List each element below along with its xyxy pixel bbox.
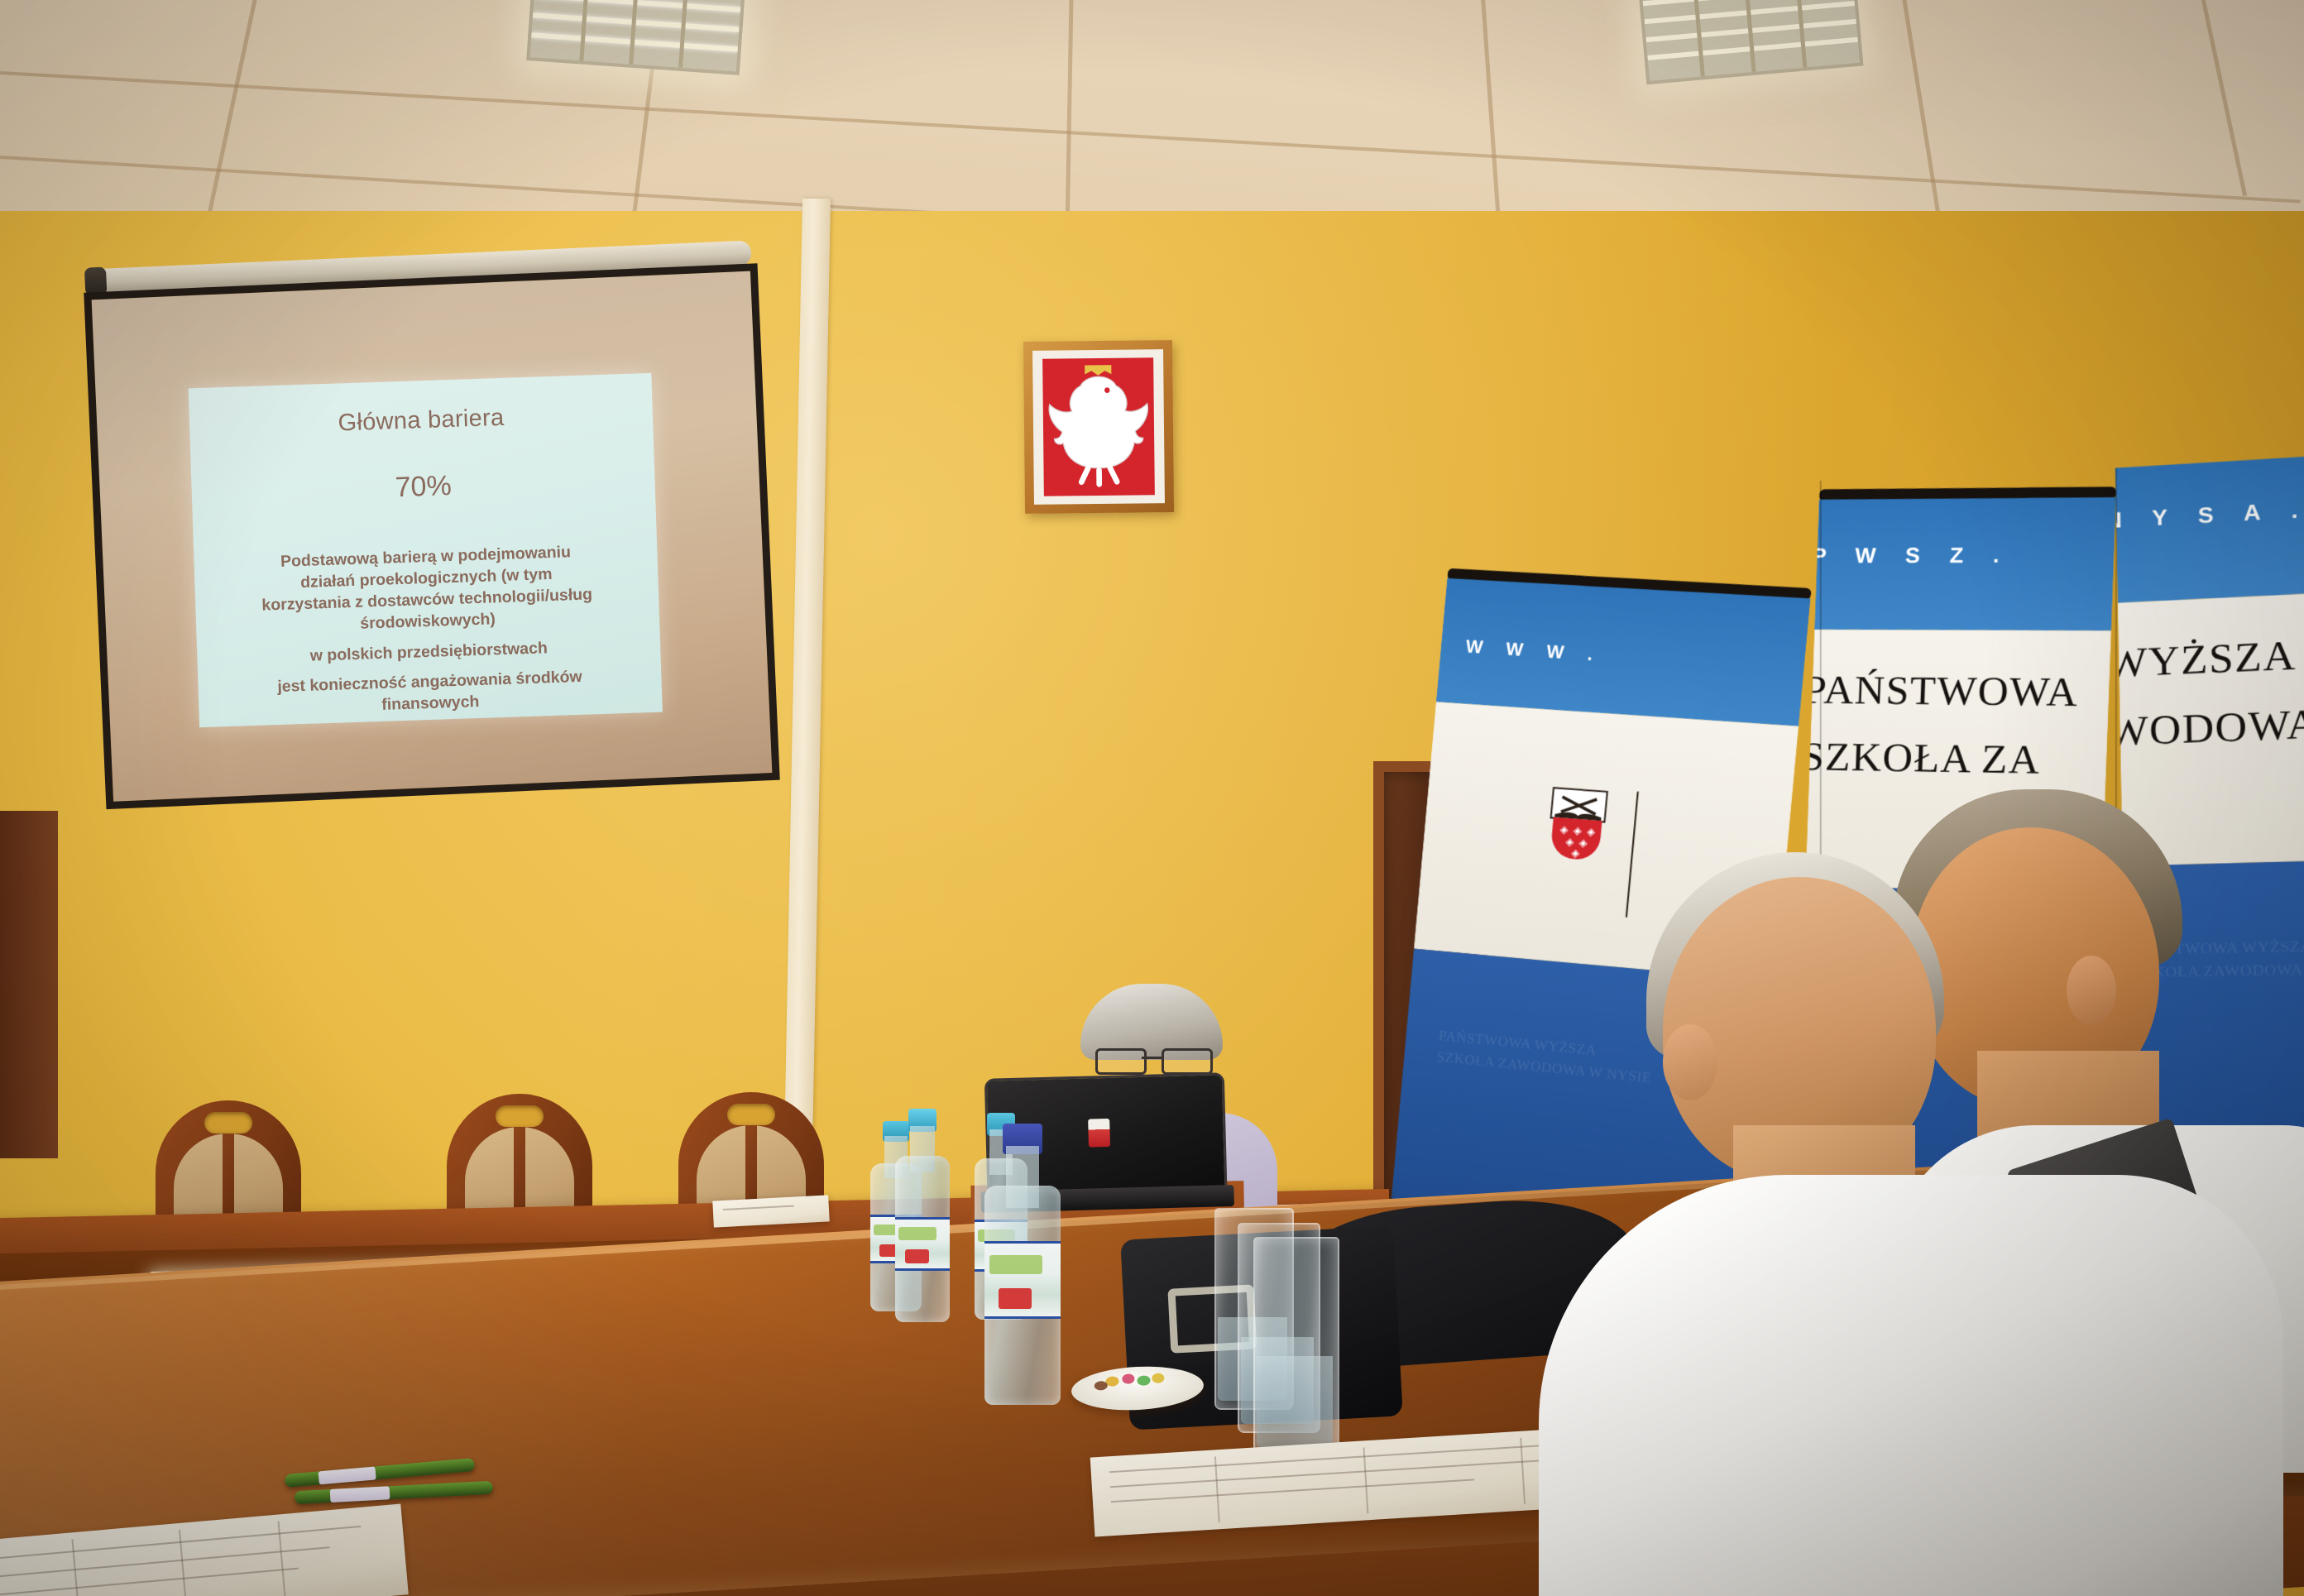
drinking-glass[interactable] [1253, 1237, 1336, 1454]
slide-title: Główna bariera [208, 400, 635, 442]
ceiling-light-panel-right [1639, 0, 1864, 84]
slide-percentage: 70% [209, 464, 637, 510]
white-eagle-icon [1042, 357, 1155, 496]
screen-surface: Główna bariera 70% Podstawową barierą w … [84, 263, 779, 809]
coat-of-arms-mat [1032, 349, 1165, 505]
water-bottle[interactable] [984, 1124, 1061, 1405]
ceiling-light-panel-left [526, 0, 746, 75]
slide-body-line: w polskich przedsiębiorstwach [215, 634, 643, 669]
slide-body: Podstawową barierą w podejmowaniu działa… [212, 539, 644, 721]
attendee-left-ear [1663, 1024, 1717, 1100]
banner-title-part: PAŃSTWOWA [1803, 667, 2079, 716]
suspended-ceiling [0, 0, 2304, 228]
coat-of-arms-shield [1042, 357, 1155, 496]
presenter-glasses [1095, 1048, 1211, 1070]
projected-slide: Główna bariera 70% Podstawową barierą w … [189, 373, 663, 727]
conference-room-photo: Główna bariera 70% Podstawową barierą w … [0, 0, 2304, 1596]
attendee-left-shirt [1539, 1175, 2283, 1596]
banner-title-part: WYŻSZA [2115, 632, 2297, 688]
water-bottle[interactable] [895, 1109, 950, 1322]
left-wall-dark-recess [0, 811, 58, 1158]
crossed-quills-icon [1552, 788, 1607, 821]
polish-coat-of-arms-frame [1023, 340, 1174, 514]
projector-screen: Główna bariera 70% Podstawową barierą w … [67, 258, 785, 834]
laptop-emblem-sticker [1088, 1119, 1110, 1148]
banner-url-partial: P W S Z . [1812, 544, 2012, 569]
banner-title-part: SZKOŁA ZA [1800, 734, 2041, 784]
attendee-front-left [1555, 827, 2300, 1596]
